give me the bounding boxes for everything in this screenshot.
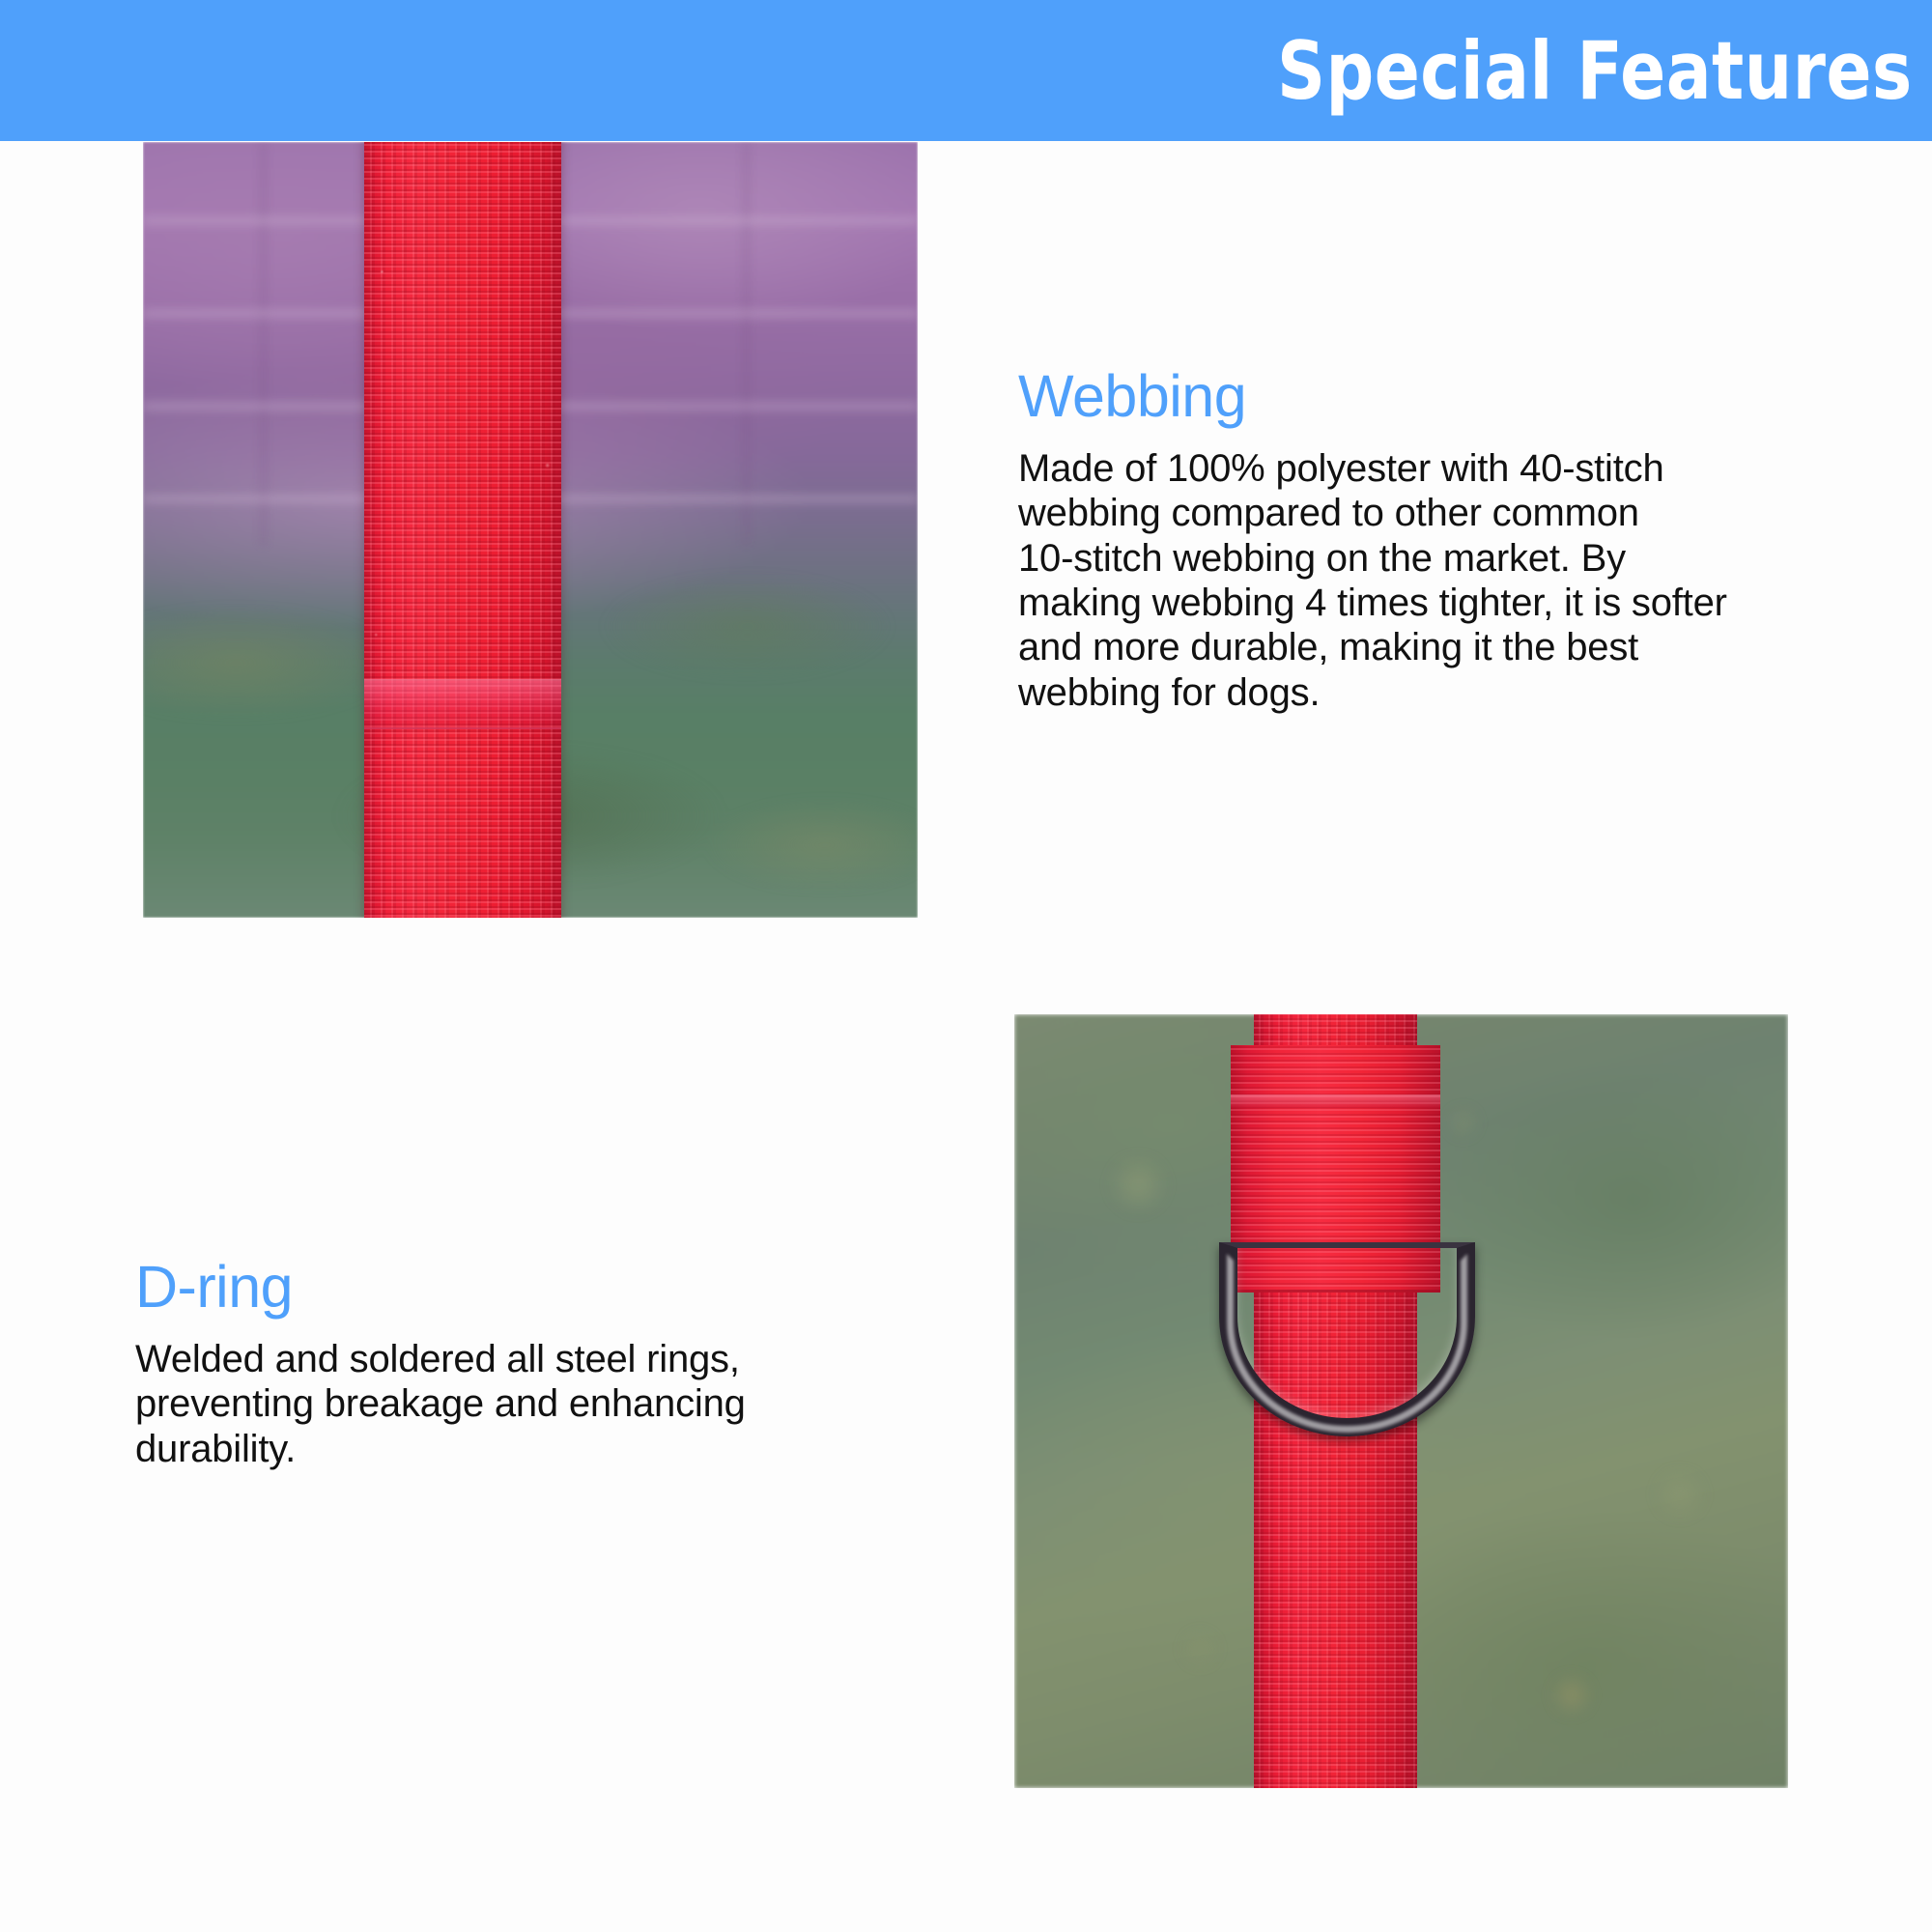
- webbing-text-block: Webbing Made of 100% polyester with 40-s…: [1018, 365, 1907, 715]
- webbing-heading: Webbing: [1018, 365, 1907, 429]
- dring-text-block: D-ring Welded and soldered all steel rin…: [135, 1256, 918, 1471]
- feature-page: Special Features Webbing Made of 100% po…: [0, 0, 1932, 1932]
- page-title: Special Features: [1277, 31, 1932, 111]
- dring-photo: [1014, 1014, 1788, 1788]
- dring-heading: D-ring: [135, 1256, 918, 1320]
- webbing-description: Made of 100% polyester with 40-stitch we…: [1018, 446, 1907, 715]
- webbing-photo: [143, 142, 918, 918]
- dring-loop-seam: [1231, 1094, 1439, 1108]
- dring-description: Welded and soldered all steel rings, pre…: [135, 1337, 918, 1471]
- header-banner: Special Features: [0, 0, 1932, 141]
- webbing-strap: [364, 142, 562, 918]
- webbing-fray-threads: [364, 142, 562, 918]
